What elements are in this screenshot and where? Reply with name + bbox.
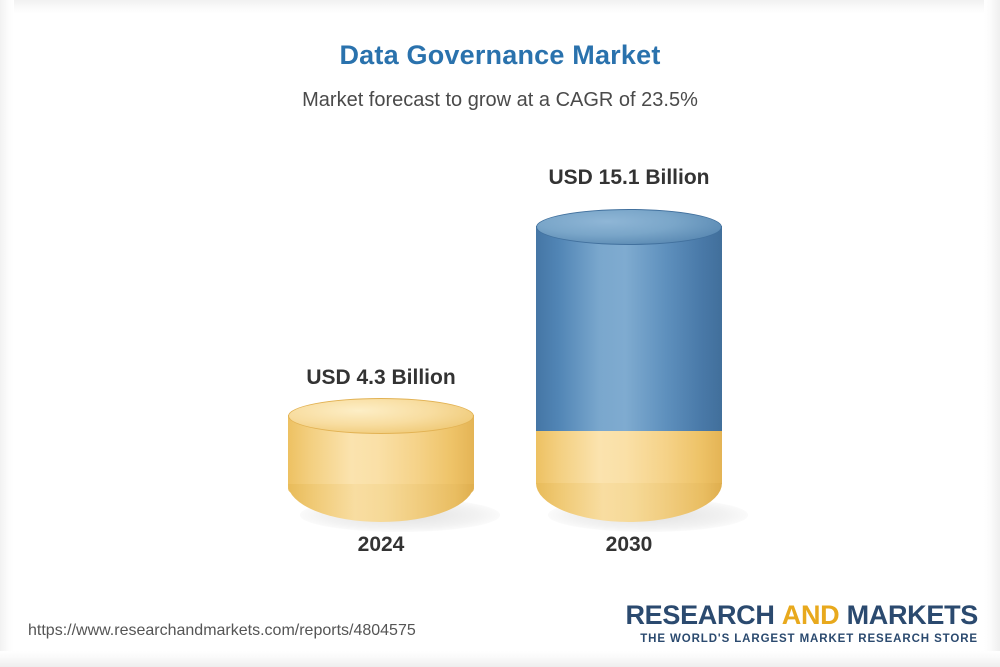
- bar-2030: [536, 209, 722, 522]
- data-label-2024: USD 4.3 Billion: [288, 366, 474, 390]
- category-label-2024: 2024: [288, 533, 474, 557]
- chart-subtitle: Market forecast to grow at a CAGR of 23.…: [0, 89, 1000, 112]
- page-edge-top: [0, 0, 1000, 14]
- data-label-2030: USD 15.1 Billion: [536, 166, 722, 190]
- chart-title: Data Governance Market: [0, 40, 1000, 71]
- brand-word-markets: MARKETS: [847, 600, 978, 630]
- brand-tagline: THE WORLD'S LARGEST MARKET RESEARCH STOR…: [625, 633, 978, 645]
- bar-2030-body-lower: [536, 431, 722, 484]
- chart-canvas: Data Governance Market Market forecast t…: [0, 0, 1000, 667]
- bar-2030-top: [536, 209, 722, 245]
- bar-2024-top: [288, 398, 474, 434]
- brand-word-and: AND: [782, 600, 840, 630]
- bar-2030-body-upper: [536, 226, 722, 431]
- brand-logo[interactable]: RESEARCH AND MARKETS THE WORLD'S LARGEST…: [625, 600, 978, 645]
- source-url[interactable]: https://www.researchandmarkets.com/repor…: [28, 622, 416, 640]
- bar-2024-base: [288, 484, 474, 522]
- category-label-2030: 2030: [536, 533, 722, 557]
- brand-logo-wordmark: RESEARCH AND MARKETS: [625, 600, 978, 631]
- bar-2024: [288, 398, 474, 522]
- bar-2030-base: [536, 483, 722, 522]
- brand-word-research: RESEARCH: [625, 600, 774, 630]
- page-edge-bottom: [0, 651, 1000, 667]
